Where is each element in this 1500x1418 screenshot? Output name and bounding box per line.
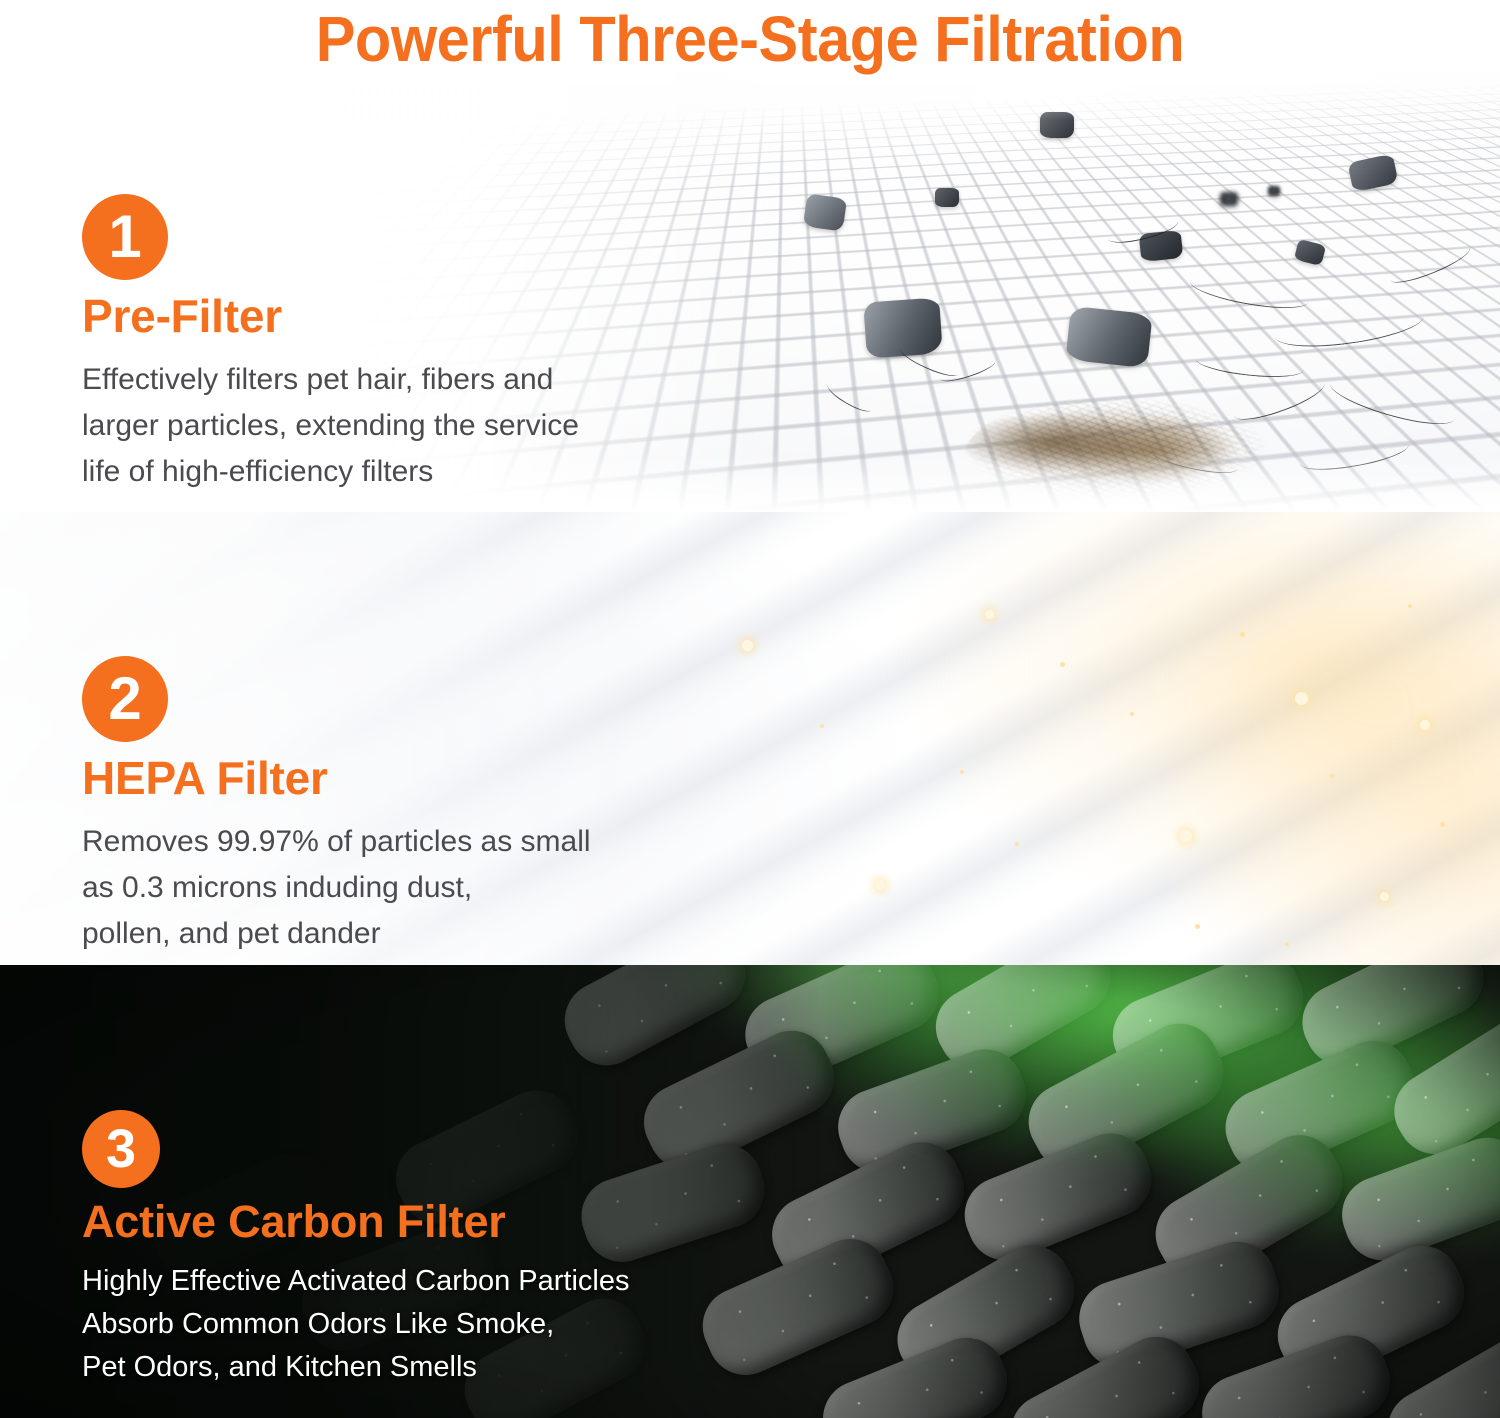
debris-chunk xyxy=(1220,192,1238,206)
sparkle xyxy=(1015,842,1019,846)
sparkle xyxy=(742,640,753,651)
sparkle xyxy=(1060,662,1065,667)
sparkle xyxy=(1240,632,1245,637)
sparkle xyxy=(985,610,994,619)
step-number-badge-1: 1 xyxy=(82,194,168,280)
active-carbon-description: Highly Effective Activated Carbon Partic… xyxy=(82,1260,782,1389)
hepa-filter-heading: HEPA Filter xyxy=(82,754,722,803)
debris-chunk xyxy=(935,188,959,207)
sparkle xyxy=(1420,720,1430,730)
description-line: as 0.3 microns induding dust, xyxy=(82,865,722,911)
sparkle xyxy=(1408,604,1412,608)
pre-filter-text-block: 1 Pre-Filter Effectively filters pet hai… xyxy=(82,194,722,495)
debris-chunk xyxy=(1268,186,1280,196)
sparkle xyxy=(1295,692,1308,705)
description-line: Pet Odors, and Kitchen Smells xyxy=(82,1346,782,1389)
hepa-filter-description: Removes 99.97% of particles as small as … xyxy=(82,819,722,958)
description-line: larger particles, extending the service xyxy=(82,403,722,449)
filtration-infographic: Powerful Three-Stage Filtration xyxy=(0,0,1500,1418)
active-carbon-heading: Active Carbon Filter xyxy=(82,1198,782,1246)
debris-chunk xyxy=(1065,306,1152,368)
sparkle xyxy=(960,770,964,774)
description-line: Removes 99.97% of particles as small xyxy=(82,819,722,865)
step-number-badge-2: 2 xyxy=(82,656,168,742)
mesh-top-fade xyxy=(0,0,1500,120)
pre-filter-heading: Pre-Filter xyxy=(82,292,722,341)
sparkle xyxy=(1440,822,1445,827)
sparkle xyxy=(820,724,824,728)
sparkle xyxy=(1380,892,1389,901)
description-line: Effectively filters pet hair, fibers and xyxy=(82,357,722,403)
step-number-badge-3: 3 xyxy=(82,1110,160,1188)
debris-chunk xyxy=(803,193,847,231)
hepa-filter-text-block: 2 HEPA Filter Removes 99.97% of particle… xyxy=(82,656,722,957)
description-line: life of high-efficiency filters xyxy=(82,449,722,495)
sparkle xyxy=(1180,830,1192,842)
description-line: Highly Effective Activated Carbon Partic… xyxy=(82,1260,782,1303)
sparkle xyxy=(875,880,885,890)
sparkle xyxy=(1285,942,1289,946)
pre-filter-description: Effectively filters pet hair, fibers and… xyxy=(82,357,722,496)
active-carbon-text-block: 3 Active Carbon Filter Highly Effective … xyxy=(82,1110,782,1388)
sparkle xyxy=(1330,774,1334,778)
sparkle xyxy=(1130,712,1134,716)
sparkle xyxy=(1195,924,1200,929)
description-line: pollen, and pet dander xyxy=(82,911,722,957)
description-line: Absorb Common Odors Like Smoke, xyxy=(82,1303,782,1346)
